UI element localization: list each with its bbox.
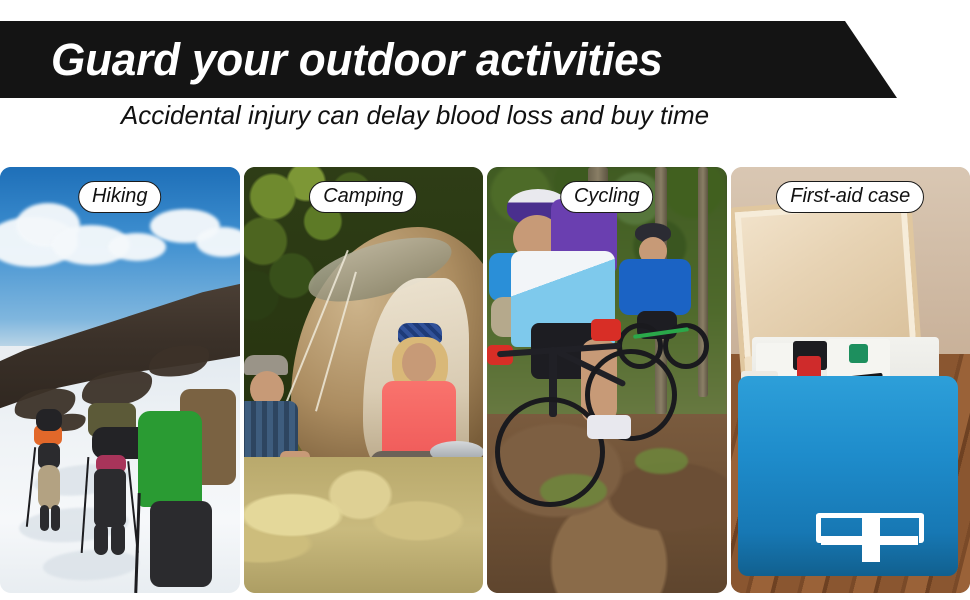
panel-hiking[interactable]: Hiking (0, 167, 240, 593)
header-banner: Guard your outdoor activities (0, 21, 900, 98)
panel-label-hiking: Hiking (78, 181, 162, 213)
panel-cycling[interactable]: Cycling (487, 167, 727, 593)
panel-first-aid-case[interactable]: First-aid case (731, 167, 970, 593)
hiker-figure (30, 407, 78, 537)
panel-label-cycling: Cycling (560, 181, 654, 213)
panel-label-first-aid-case: First-aid case (776, 181, 924, 213)
hiker-figure (132, 383, 240, 593)
panel-strip: Hiking (0, 167, 970, 593)
panel-camping[interactable]: Camping (244, 167, 484, 593)
case-body (738, 376, 958, 576)
dry-grass (244, 457, 484, 593)
cloud (108, 233, 166, 261)
page-subtitle: Accidental injury can delay blood loss a… (0, 100, 970, 131)
medical-cross-icon (821, 518, 918, 562)
promo-banner-page: Guard your outdoor activities Accidental… (0, 0, 970, 600)
rider-foreground (489, 189, 679, 519)
panel-label-camping: Camping (309, 181, 417, 213)
page-title: Guard your outdoor activities (0, 34, 663, 86)
